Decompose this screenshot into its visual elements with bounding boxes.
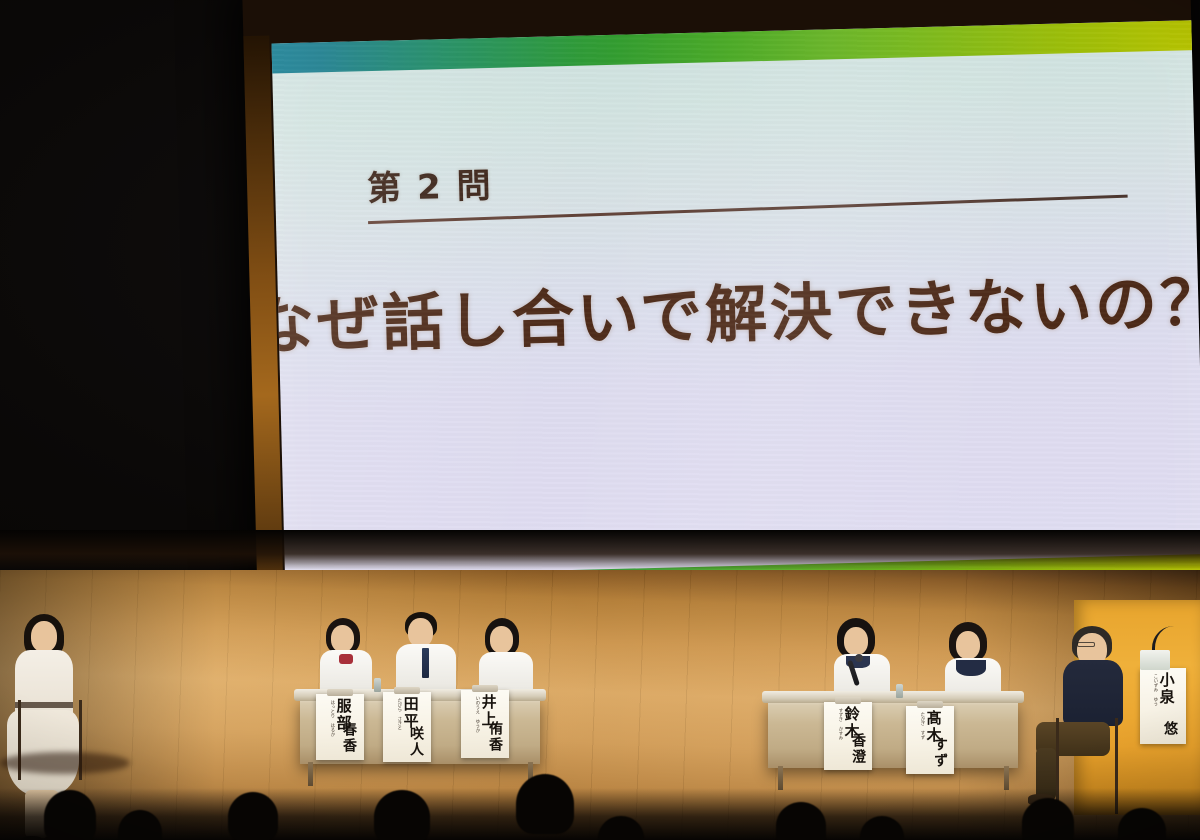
nameplate-tabira-family: 田平 bbox=[402, 696, 418, 730]
nameplate-takagi: 髙木 たかぎ すず すず bbox=[906, 706, 954, 774]
nameplate-koizumi-given: 悠 bbox=[1162, 721, 1177, 737]
nameplate-inoue: 井上 いのうえ ゆうか 侑香 bbox=[461, 690, 509, 758]
water-bottle-left-desk bbox=[374, 678, 381, 692]
nameplate-tabira-ruby: たびら さきと bbox=[396, 698, 401, 730]
nameplate-koizumi-ruby: こいずみ ゆう bbox=[1152, 674, 1157, 706]
nameplate-tabira-given: 咲人 bbox=[408, 726, 423, 758]
stage-photograph: 第 2 問 なぜ話し合いで解決できないの？ Gakken bbox=[0, 0, 1200, 840]
left-desk-leg-1 bbox=[308, 762, 313, 786]
nameplate-koizumi: 小泉 こいずみ ゆう 悠 bbox=[1140, 668, 1186, 744]
right-desk-leg-2 bbox=[1004, 766, 1009, 790]
nameplate-tabira: 田平 たびら さきと 咲人 bbox=[383, 692, 431, 762]
student-4-head bbox=[844, 627, 868, 655]
student-3-head bbox=[490, 626, 513, 653]
nameplate-clip bbox=[472, 685, 498, 692]
nameplate-hattori: 服部 はっとり はるか 春香 bbox=[316, 694, 364, 760]
moderator-stage-mat bbox=[0, 752, 130, 774]
stage-back-shadow bbox=[0, 530, 1200, 570]
audience-head bbox=[44, 790, 96, 840]
nameplate-takagi-given: すず bbox=[932, 737, 947, 769]
nameplate-inoue-given: 侑香 bbox=[487, 721, 502, 753]
slide-top-gradient-bar bbox=[272, 20, 1200, 74]
presentation-slide: 第 2 問 なぜ話し合いで解決できないの？ Gakken bbox=[272, 20, 1200, 611]
nameplate-clip bbox=[394, 687, 420, 694]
guest-table-items bbox=[1140, 650, 1170, 670]
nameplate-hattori-ruby: はっとり はるか bbox=[329, 700, 334, 737]
audience-head bbox=[374, 790, 430, 840]
student-2-necktie bbox=[422, 648, 429, 678]
right-panel-desk bbox=[768, 700, 1018, 768]
audience-head bbox=[1022, 798, 1074, 840]
moderator-head bbox=[31, 621, 57, 652]
nameplate-clip bbox=[327, 689, 353, 696]
water-bottle-right-desk bbox=[896, 684, 903, 698]
microphone-head bbox=[855, 654, 863, 662]
nameplate-clip bbox=[917, 701, 943, 708]
right-desk-top bbox=[762, 691, 1024, 703]
student-1-ribbon bbox=[339, 654, 353, 664]
student-1-head bbox=[331, 625, 354, 652]
projection-screen: 第 2 問 なぜ話し合いで解決できないの？ Gakken bbox=[242, 0, 1200, 616]
nameplate-takagi-ruby: たかぎ すず bbox=[919, 712, 924, 740]
nameplate-inoue-ruby: いのうえ ゆうか bbox=[474, 696, 479, 733]
nameplate-hattori-given: 春香 bbox=[341, 722, 356, 754]
nameplate-suzuki-ruby: すずき かすみ bbox=[837, 708, 842, 740]
nameplate-koizumi-family: 小泉 bbox=[1158, 672, 1174, 706]
nameplate-suzuki: 鈴木 すずき かすみ 香澄 bbox=[824, 702, 872, 770]
slide-main-question: なぜ話し合いで解決できないの？ bbox=[272, 251, 1200, 366]
audience-head bbox=[228, 792, 278, 840]
right-desk-leg-1 bbox=[778, 766, 783, 790]
student-2-head bbox=[408, 618, 433, 647]
slide-question-number: 第 2 問 bbox=[367, 158, 494, 210]
nameplate-clip bbox=[835, 697, 861, 704]
audience-head bbox=[516, 774, 574, 834]
nameplate-suzuki-given: 香澄 bbox=[850, 733, 865, 765]
guest-polo-shirt bbox=[1063, 660, 1123, 726]
student-5-head bbox=[956, 631, 980, 659]
student-5-sailor-collar bbox=[956, 660, 986, 676]
glasses-icon bbox=[1077, 642, 1095, 647]
